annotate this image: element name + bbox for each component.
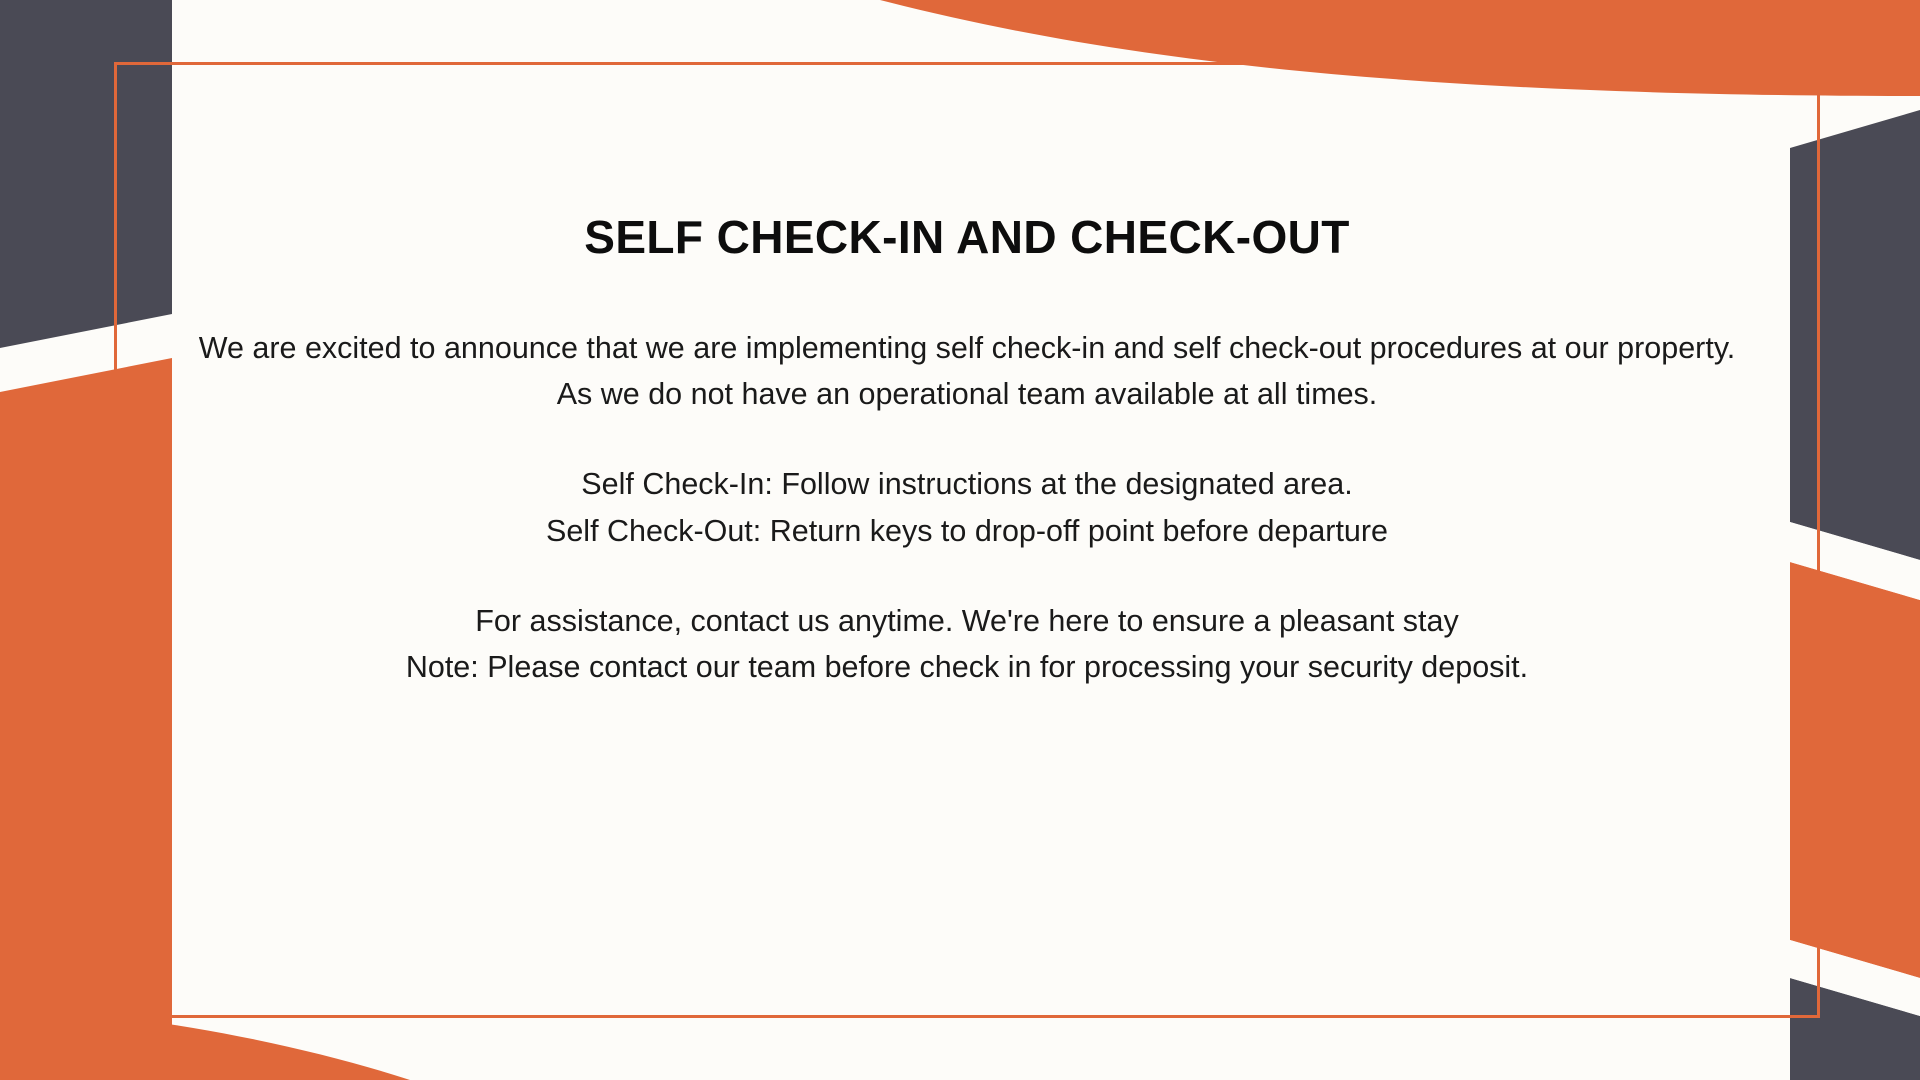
bottom-left-curve [0,1008,410,1080]
notice-poster: SELF CHECK-IN AND CHECK-OUT We are excit… [0,0,1920,1080]
notice-content: SELF CHECK-IN AND CHECK-OUT We are excit… [114,62,1820,1018]
notice-body: We are excited to announce that we are i… [147,325,1787,691]
left-parallelogram-slate-lower-mask [0,1062,172,1080]
note-line: Note: Please contact our team before che… [147,644,1787,690]
intro-line-1: We are excited to announce that we are i… [147,325,1787,371]
procedure-line-check-out: Self Check-Out: Return keys to drop-off … [147,508,1787,554]
left-slate-bottom-final [0,1076,172,1080]
intro-line-2: As we do not have an operational team av… [147,371,1787,417]
assistance-line: For assistance, contact us anytime. We'r… [147,598,1787,644]
bottom-left-swoosh-orange [0,1012,400,1080]
left-white-gap-lower [0,1042,170,1080]
paragraph-assistance: For assistance, contact us anytime. We'r… [147,598,1787,691]
paragraph-procedures: Self Check-In: Follow instructions at th… [147,461,1787,554]
paragraph-intro: We are excited to announce that we are i… [147,325,1787,418]
page-title: SELF CHECK-IN AND CHECK-OUT [584,212,1350,263]
procedure-line-check-in: Self Check-In: Follow instructions at th… [147,461,1787,507]
left-slate-bottom-rect [0,1076,172,1080]
